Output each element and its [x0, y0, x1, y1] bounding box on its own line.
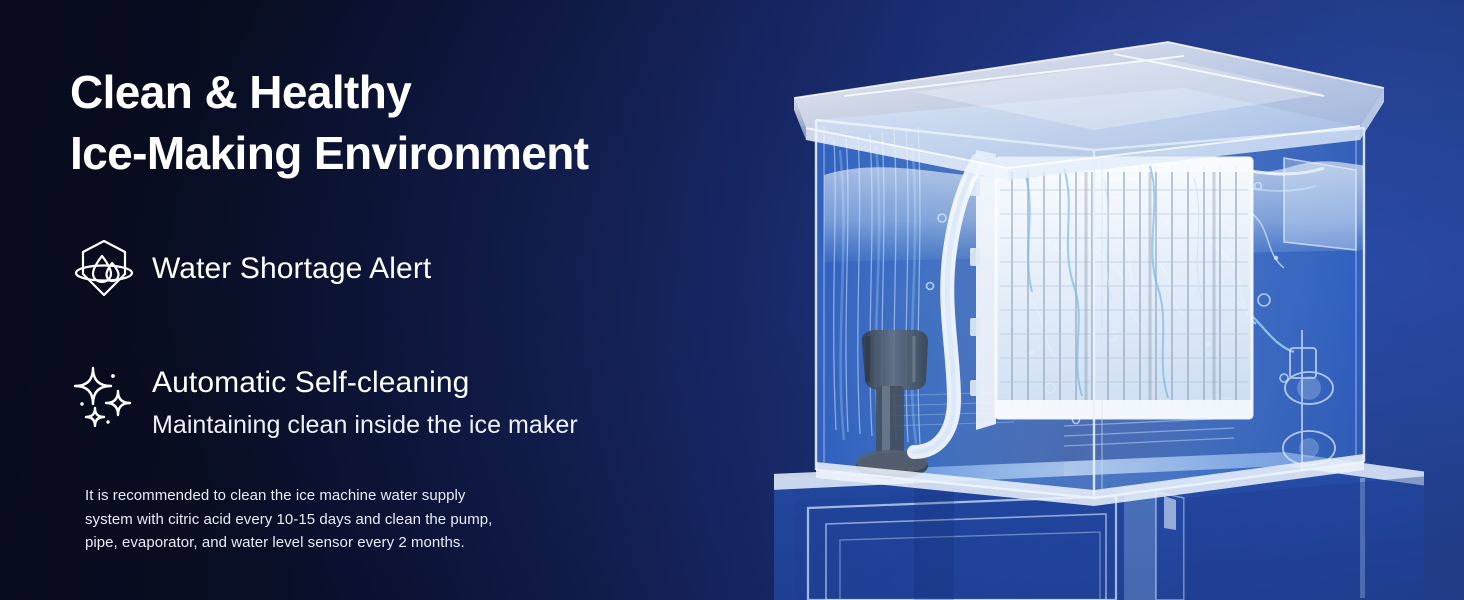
water-shield-icon — [68, 232, 140, 304]
feature-water-shortage-alert: Water Shortage Alert — [68, 232, 431, 304]
disclaimer-line-2: system with citric acid every 10-15 days… — [85, 508, 585, 532]
feature-title: Automatic Self-cleaning — [152, 360, 578, 398]
headline-line-2: Ice-Making Environment — [70, 123, 588, 184]
disclaimer-text: It is recommended to clean the ice machi… — [85, 484, 585, 555]
feature-automatic-self-cleaning: Automatic Self-cleaning Maintaining clea… — [68, 360, 578, 438]
sparkles-icon — [68, 360, 140, 432]
disclaimer-line-1: It is recommended to clean the ice machi… — [85, 484, 585, 508]
feature-subtitle: Maintaining clean inside the ice maker — [152, 413, 578, 438]
glass-housing — [794, 42, 1384, 506]
product-image — [764, 0, 1464, 600]
text-column: Clean & Healthy Ice-Making Environment W… — [0, 0, 760, 600]
page-title: Clean & Healthy Ice-Making Environment — [70, 62, 588, 183]
promo-banner: Clean & Healthy Ice-Making Environment W… — [0, 0, 1464, 600]
headline-line-1: Clean & Healthy — [70, 66, 411, 118]
feature-title: Water Shortage Alert — [152, 252, 431, 284]
disclaimer-line-3: pipe, evaporator, and water level sensor… — [85, 531, 585, 555]
